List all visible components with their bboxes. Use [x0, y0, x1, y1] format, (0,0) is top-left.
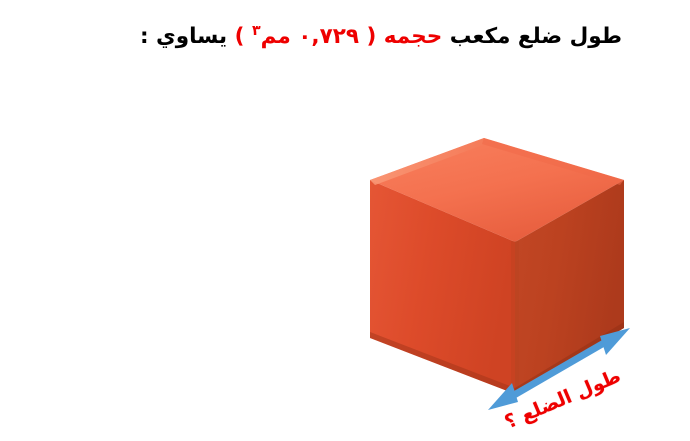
- question-heading: طول ضلع مكعب حجمه ( ٠,٧٢٩ مم٣ ) يساوي :: [68, 22, 622, 53]
- question-unit-exponent: ٣: [252, 23, 261, 39]
- question-highlight-tail: ): [235, 24, 252, 49]
- question-highlight-text: حجمه ( ٠,٧٢٩ مم: [261, 24, 443, 49]
- slide-canvas: طول ضلع مكعب حجمه ( ٠,٧٢٩ مم٣ ) يساوي :: [0, 0, 690, 441]
- question-lead-text: طول ضلع مكعب: [442, 24, 622, 49]
- question-trail-text: يساوي :: [140, 24, 235, 49]
- cube-center-edge-shade: [511, 241, 519, 394]
